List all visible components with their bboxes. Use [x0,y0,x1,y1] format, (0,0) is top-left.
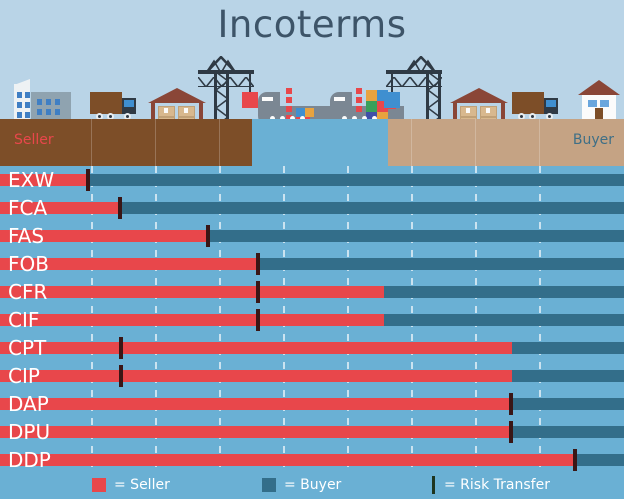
chart-row-exw: EXW [0,166,624,194]
risk-transfer-marker [256,309,260,331]
buyer-bar [511,398,624,410]
buyer-bar [511,426,624,438]
legend-label-buyer: = Buyer [284,471,341,499]
seller-bar [0,286,384,298]
chart-row-dpu: DPU [0,418,624,446]
buyer-bar [384,314,624,326]
buyer-bar [384,286,624,298]
buyer-bar [208,230,624,242]
chart-row-ddp: DDP [0,446,624,474]
buyer-bar [512,342,624,354]
risk-transfer-marker [573,449,577,471]
row-label-cpt: CPT [8,334,46,362]
row-label-fca: FCA [8,194,47,222]
risk-transfer-marker [206,225,210,247]
seller-bar [0,370,512,382]
row-label-ddp: DDP [8,446,51,474]
row-label-cfr: CFR [8,278,47,306]
buyer-bar [512,370,624,382]
infographic-root: Incoterms [0,0,624,499]
house-icon [578,80,620,120]
row-label-dap: DAP [8,390,49,418]
risk-transfer-marker [256,281,260,303]
chart-row-fca: FCA [0,194,624,222]
row-label-cip: CIP [8,362,40,390]
legend-label-seller: = Seller [114,471,170,499]
chart-row-fas: FAS [0,222,624,250]
buyer-bar [120,202,624,214]
chart-row-fob: FOB [0,250,624,278]
risk-transfer-marker [509,393,513,415]
page-title: Incoterms [0,4,624,46]
risk-transfer-marker [86,169,90,191]
chart-row-cpt: CPT [0,334,624,362]
row-label-cif: CIF [8,306,39,334]
chart-row-cfr: CFR [0,278,624,306]
incoterms-chart: EXWFCAFASFOBCFRCIFCPTCIPDAPDPUDDP = Sell… [0,166,624,499]
chart-row-cip: CIP [0,362,624,390]
risk-transfer-marker [119,365,123,387]
row-label-dpu: DPU [8,418,50,446]
buyer-bar [258,258,624,270]
chart-row-dap: DAP [0,390,624,418]
row-label-fob: FOB [8,250,49,278]
risk-transfer-swatch [432,476,435,494]
illustration-scene: Incoterms [0,0,624,166]
risk-transfer-marker [119,337,123,359]
buyer-bar [88,174,624,186]
risk-transfer-marker [256,253,260,275]
risk-transfer-marker [509,421,513,443]
seller-bar [0,398,511,410]
row-label-exw: EXW [8,166,54,194]
seller-label: Seller [14,132,54,148]
buyer-swatch [262,478,276,492]
buyer-label: Buyer [573,132,614,148]
water-strip [252,119,388,166]
risk-transfer-marker [118,197,122,219]
legend-label-risk-transfer: = Risk Transfer [444,471,550,499]
seller-bar [0,314,384,326]
row-label-fas: FAS [8,222,44,250]
seller-swatch [92,478,106,492]
buyer-bar [575,454,624,466]
seller-bar [0,342,512,354]
seller-bar [0,454,575,466]
seller-bar [0,426,511,438]
chart-row-cif: CIF [0,306,624,334]
chart-legend: = Seller= Buyer= Risk Transfer [0,471,624,499]
